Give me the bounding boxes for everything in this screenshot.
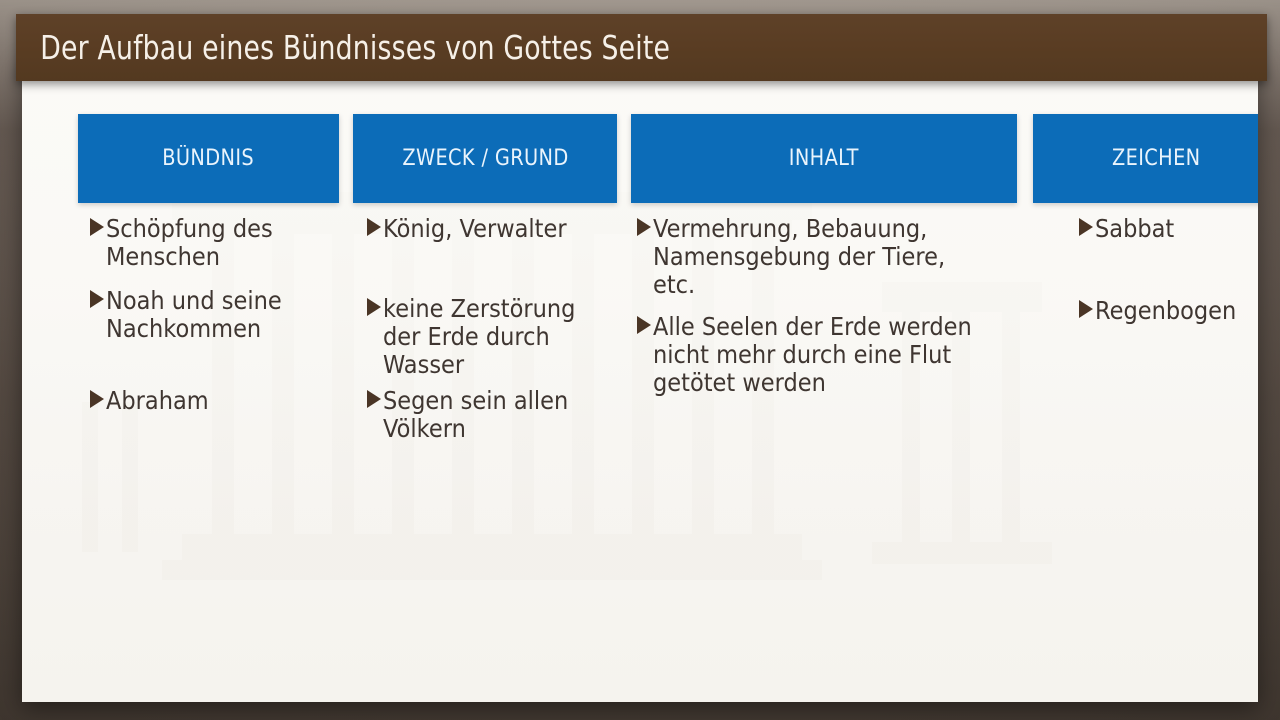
triangle-right-icon (90, 390, 104, 408)
triangle-right-icon (1079, 300, 1093, 318)
list-item: Regenbogen (1079, 297, 1258, 325)
list-item-text: Regenbogen (1095, 297, 1258, 325)
list-item: Abraham (90, 387, 339, 415)
column-header-label: BÜNDNIS (163, 146, 255, 171)
title-banner: Der Aufbau eines Bündnisses von Gottes S… (16, 14, 1267, 81)
list-item-text: keine Zerstörung der Erde durch Wasser (383, 295, 594, 379)
triangle-right-icon (367, 390, 381, 408)
column-zweck-grund: ZWECK / GRUND König, Verwalter keine Zer… (353, 114, 617, 461)
columns-container: BÜNDNIS Schöpfung des Menschen Noah und … (22, 58, 1258, 702)
list-item-text: Sabbat (1095, 215, 1258, 243)
triangle-right-icon (637, 316, 651, 334)
list-item-text: König, Verwalter (383, 215, 594, 243)
slide-root: BÜNDNIS Schöpfung des Menschen Noah und … (0, 0, 1280, 720)
column-header-label: INHALT (789, 146, 859, 171)
column-buendnis: BÜNDNIS Schöpfung des Menschen Noah und … (78, 114, 339, 433)
list-item-text: Alle Seelen der Erde werden nicht mehr d… (653, 313, 981, 397)
column-inhalt: INHALT Vermehrung, Bebauung, Namensgebun… (631, 114, 1017, 415)
column-body-inhalt: Vermehrung, Bebauung, Namensgebung der T… (631, 203, 1017, 397)
column-header-label: ZWECK / GRUND (402, 146, 568, 171)
list-item: keine Zerstörung der Erde durch Wasser (367, 295, 617, 379)
column-body-buendnis: Schöpfung des Menschen Noah und seine Na… (78, 203, 339, 415)
triangle-right-icon (367, 218, 381, 236)
column-header-label: ZEICHEN (1112, 146, 1200, 171)
column-header-inhalt[interactable]: INHALT (631, 114, 1017, 203)
list-item-text: Noah und seine Nachkommen (106, 287, 316, 343)
triangle-right-icon (637, 218, 651, 236)
list-item: Segen sein allen Völkern (367, 387, 617, 443)
column-body-zeichen: Sabbat Regenbogen (1033, 203, 1258, 325)
list-item-text: Segen sein allen Völkern (383, 387, 594, 443)
list-item-text: Schöpfung des Menschen (106, 215, 316, 271)
list-item: Schöpfung des Menschen (90, 215, 339, 271)
page-title: Der Aufbau eines Bündnisses von Gottes S… (16, 28, 670, 67)
list-item: Sabbat (1079, 215, 1258, 243)
triangle-right-icon (90, 218, 104, 236)
column-header-zweck-grund[interactable]: ZWECK / GRUND (353, 114, 617, 203)
list-item-text: Abraham (106, 387, 316, 415)
list-item: Alle Seelen der Erde werden nicht mehr d… (637, 313, 1017, 397)
column-header-buendnis[interactable]: BÜNDNIS (78, 114, 339, 203)
content-card: BÜNDNIS Schöpfung des Menschen Noah und … (22, 58, 1258, 702)
triangle-right-icon (1079, 218, 1093, 236)
triangle-right-icon (367, 298, 381, 316)
list-item: Noah und seine Nachkommen (90, 287, 339, 343)
column-body-zweck-grund: König, Verwalter keine Zerstörung der Er… (353, 203, 617, 443)
triangle-right-icon (90, 290, 104, 308)
column-header-zeichen[interactable]: ZEICHEN (1033, 114, 1258, 203)
list-item-text: Vermehrung, Bebauung, Namensgebung der T… (653, 215, 981, 299)
column-zeichen: ZEICHEN Sabbat Regenbogen (1033, 114, 1258, 343)
list-item: König, Verwalter (367, 215, 617, 243)
list-item: Vermehrung, Bebauung, Namensgebung der T… (637, 215, 1017, 299)
